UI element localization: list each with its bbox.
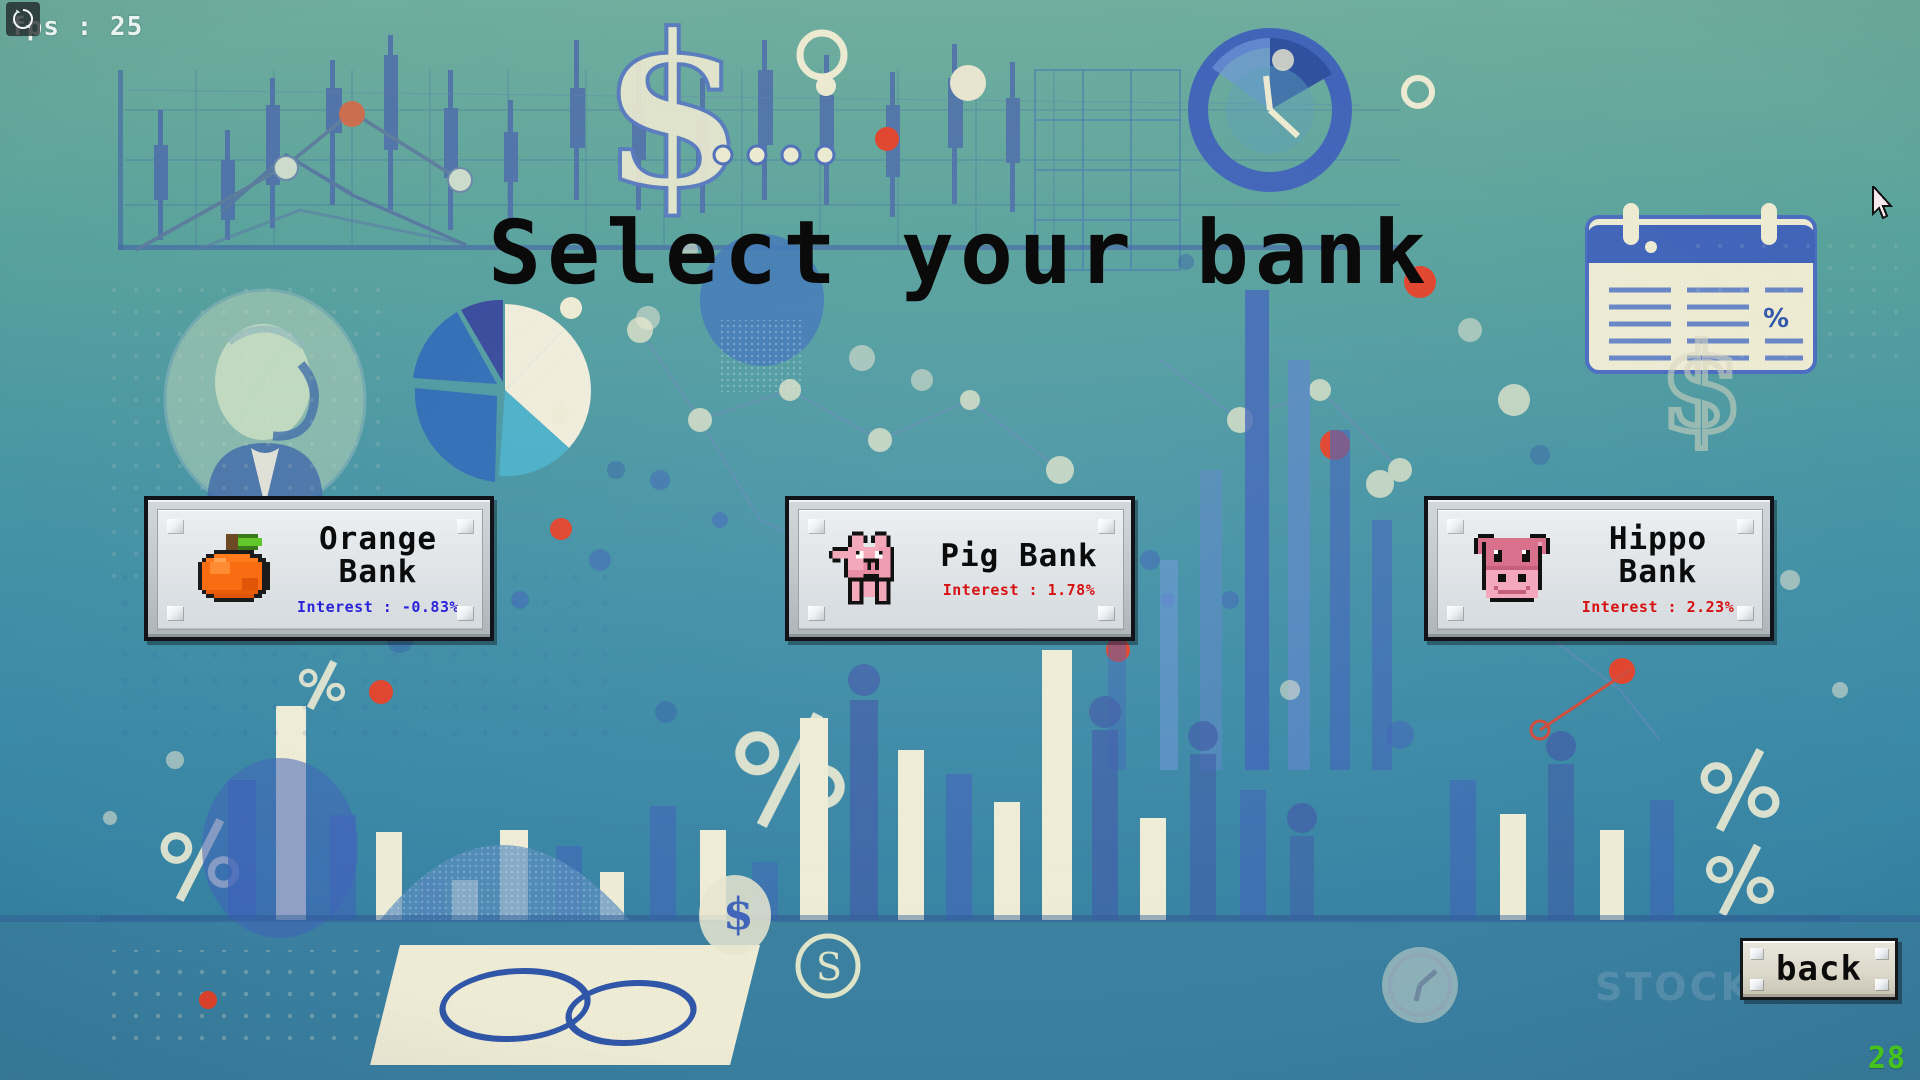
bank-name: Hippo Bank <box>1568 523 1748 588</box>
screw-icon <box>808 519 824 533</box>
hippo-head-sprite <box>1464 520 1564 620</box>
back-button-label: back <box>1776 949 1862 989</box>
screw-icon <box>167 606 183 620</box>
bank-name: Orange Bank <box>288 523 468 588</box>
bank-interest-rate: Interest : 2.23% <box>1568 598 1748 616</box>
screw-icon <box>1875 979 1888 990</box>
screw-icon <box>167 519 183 533</box>
bank-interest-rate: Interest : -0.83% <box>288 598 468 616</box>
screw-icon <box>1737 606 1753 620</box>
bank-card-face: Hippo Bank Interest : 2.23% <box>1437 509 1763 630</box>
frame-counter: 28 <box>1868 1041 1906 1076</box>
screw-icon <box>1098 519 1114 533</box>
screw-icon <box>1750 948 1763 959</box>
screw-icon <box>1447 519 1463 533</box>
bank-card-hippo[interactable]: Hippo Bank Interest : 2.23% <box>1424 496 1774 641</box>
screw-icon <box>457 606 473 620</box>
bank-card-list: Orange Bank Interest : -0.83% <box>0 0 1920 1080</box>
screw-icon <box>808 606 824 620</box>
game-screen: $ <box>0 0 1920 1080</box>
bank-name: Pig Bank <box>929 540 1109 573</box>
screw-icon <box>1875 948 1888 959</box>
bank-card-face: Pig Bank Interest : 1.78% <box>798 509 1124 630</box>
bank-card-pig[interactable]: Pig Bank Interest : 1.78% <box>785 496 1135 641</box>
bank-card-text: Pig Bank Interest : 1.78% <box>925 540 1123 600</box>
screw-icon <box>1447 606 1463 620</box>
back-button[interactable]: back <box>1740 938 1898 1000</box>
bank-card-face: Orange Bank Interest : -0.83% <box>157 509 483 630</box>
screw-icon <box>1750 979 1763 990</box>
bank-card-text: Hippo Bank Interest : 2.23% <box>1564 523 1762 615</box>
bank-card-orange[interactable]: Orange Bank Interest : -0.83% <box>144 496 494 641</box>
pig-sprite <box>825 520 925 620</box>
screw-icon <box>1098 606 1114 620</box>
orange-fruit-sprite <box>184 520 284 620</box>
bank-interest-rate: Interest : 1.78% <box>929 581 1109 599</box>
screw-icon <box>457 519 473 533</box>
screw-icon <box>1737 519 1753 533</box>
bank-card-text: Orange Bank Interest : -0.83% <box>284 523 482 615</box>
